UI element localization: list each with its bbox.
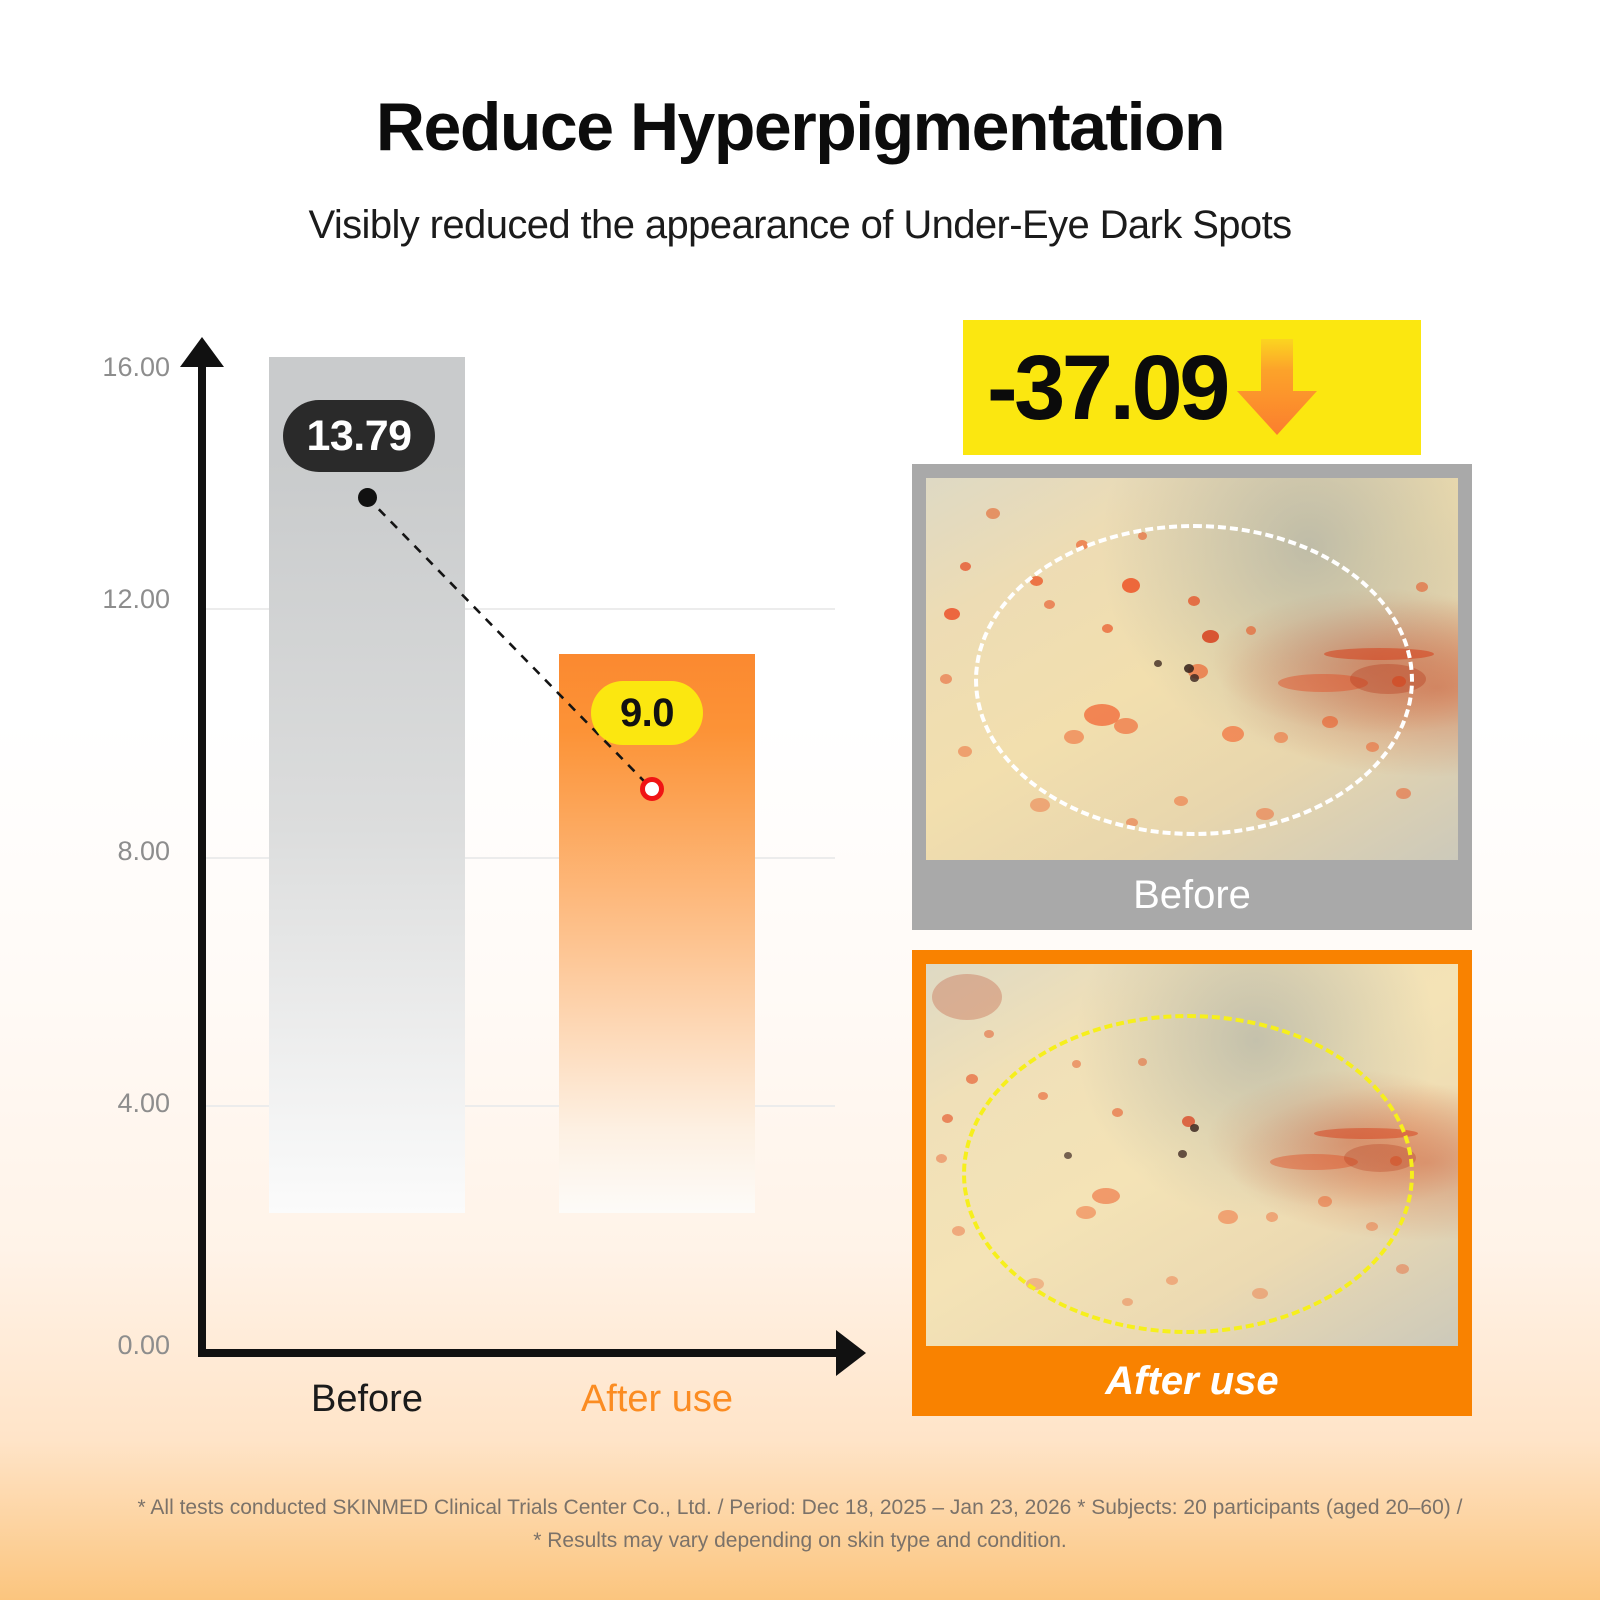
y-tick-label: 8.00: [50, 836, 170, 867]
photo-after: [926, 964, 1458, 1346]
footnotes: * All tests conducted SKINMED Clinical T…: [0, 1492, 1600, 1557]
photo-caption-after: After use: [926, 1346, 1458, 1416]
y-tick-label: 4.00: [50, 1088, 170, 1119]
bar-chart: 16.00 12.00 8.00 4.00 0.00 13.79 9.0 Bef…: [0, 0, 880, 1460]
value-label-before: 13.79: [283, 400, 435, 472]
photo-caption-before: Before: [926, 860, 1458, 930]
footnote-line-1: * All tests conducted SKINMED Clinical T…: [0, 1492, 1600, 1525]
x-axis-arrow-icon: [836, 1330, 866, 1376]
photo-card-before: Before: [912, 464, 1472, 930]
highlight-ellipse-before: [974, 524, 1414, 836]
reduction-badge: -37.09: [963, 320, 1421, 455]
highlight-ellipse-after: [962, 1014, 1414, 1334]
arrow-down-icon: [1233, 335, 1321, 444]
y-tick-label: 16.00: [50, 352, 170, 383]
data-point-marker-before: [358, 488, 377, 507]
footnote-line-2: * Results may vary depending on skin typ…: [0, 1525, 1600, 1558]
x-axis-line: [198, 1349, 846, 1357]
y-tick-label: 0.00: [50, 1330, 170, 1361]
photo-before: [926, 478, 1458, 860]
reduction-value: -37.09: [987, 342, 1227, 434]
value-label-after: 9.0: [591, 681, 703, 745]
x-axis-label-before: Before: [237, 1378, 497, 1421]
y-tick-label: 12.00: [50, 584, 170, 615]
photo-card-after: After use: [912, 950, 1472, 1416]
x-axis-label-after: After use: [527, 1378, 787, 1421]
